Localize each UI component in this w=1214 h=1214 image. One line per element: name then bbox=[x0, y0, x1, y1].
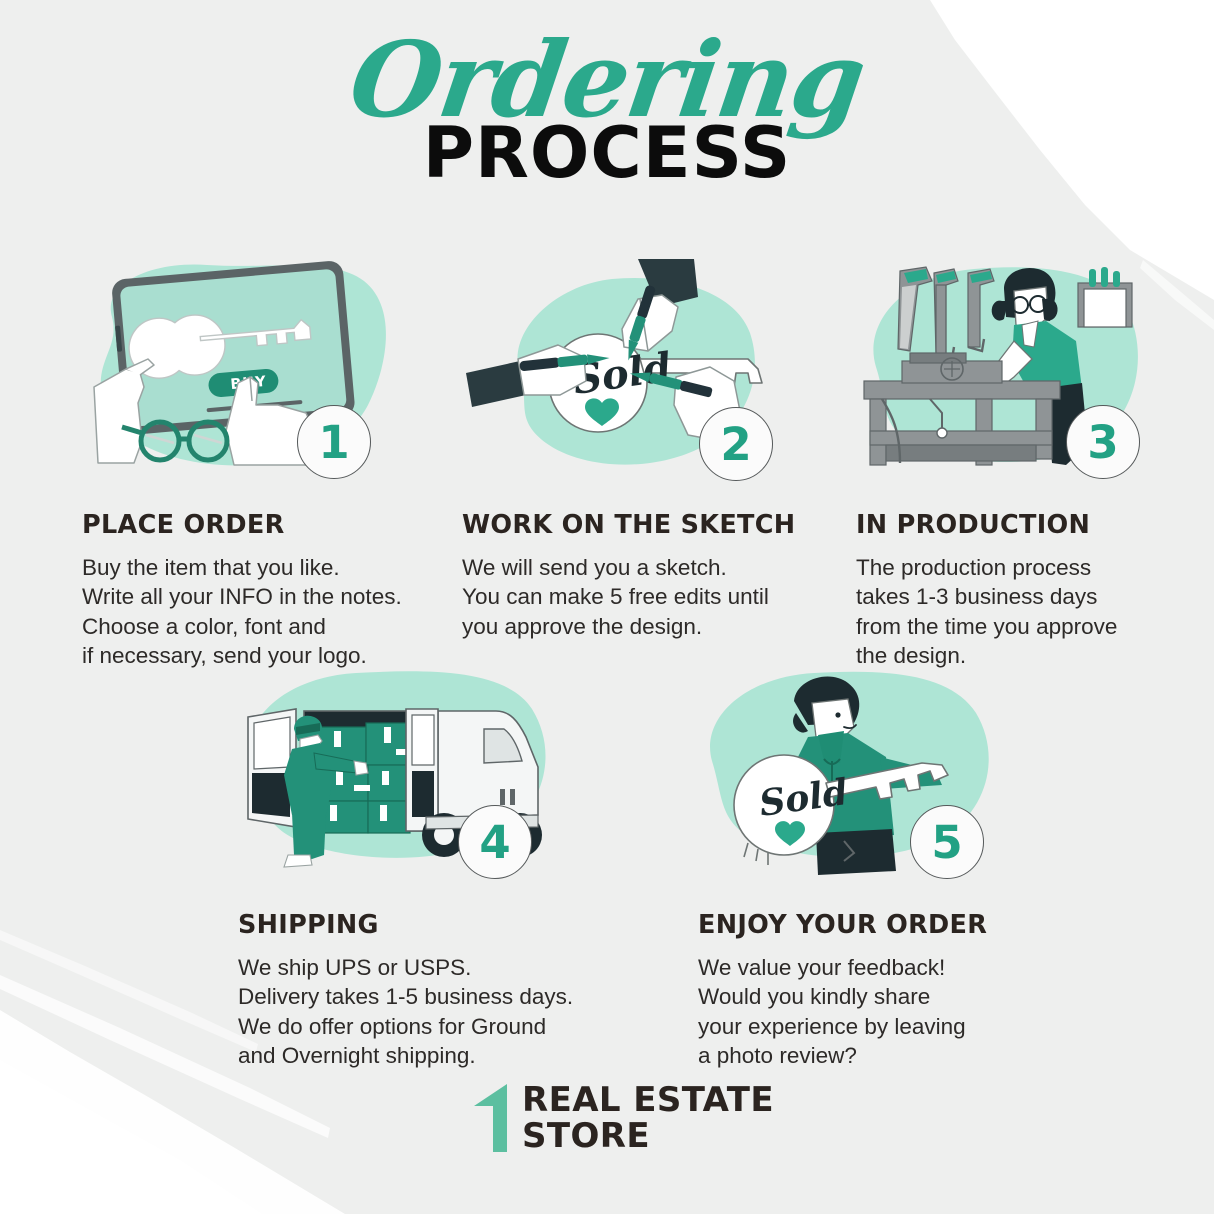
step-1-number-badge: 1 bbox=[297, 405, 371, 479]
step-4-number-badge: 4 bbox=[458, 805, 532, 879]
step-5-heading: ENJOY YOUR ORDER bbox=[698, 910, 1038, 940]
house-arrow-icon bbox=[474, 1084, 508, 1152]
step-1-body: Buy the item that you like. Write all yo… bbox=[82, 553, 447, 671]
step-2-body: We will send you a sketch. You can make … bbox=[462, 553, 812, 641]
step-5: Sold 5 ENJOY YOUR ORDER We value your fe… bbox=[698, 665, 1038, 1071]
step-3: 3 IN PRODUCTION The production process t… bbox=[856, 255, 1176, 671]
step-4-illustration: 4 bbox=[238, 665, 628, 880]
brand-logo: REAL ESTATE STORE bbox=[474, 1082, 774, 1155]
step-4-heading: SHIPPING bbox=[238, 910, 628, 940]
step-1-illustration: BUY bbox=[82, 255, 447, 480]
step-4-body: We ship UPS or USPS. Delivery takes 1-5 … bbox=[238, 953, 628, 1071]
step-2-illustration: Sold bbox=[462, 255, 812, 480]
step-3-heading: IN PRODUCTION bbox=[856, 510, 1176, 540]
infographic-page: Ordering PROCESS BUY bbox=[0, 0, 1214, 1214]
step-1: BUY bbox=[82, 255, 447, 671]
step-5-body: We value your feedback! Would you kindly… bbox=[698, 953, 1038, 1071]
step-4: 4 SHIPPING We ship UPS or USPS. Delivery… bbox=[238, 665, 628, 1071]
step-1-heading: PLACE ORDER bbox=[82, 510, 447, 540]
logo-line-1: REAL ESTATE bbox=[522, 1082, 774, 1118]
logo-line-2: STORE bbox=[522, 1118, 774, 1154]
step-5-number-badge: 5 bbox=[910, 805, 984, 879]
step-2: Sold bbox=[462, 255, 812, 641]
step-3-body: The production process takes 1-3 busines… bbox=[856, 553, 1176, 671]
step-3-number-badge: 3 bbox=[1066, 405, 1140, 479]
step-5-illustration: Sold 5 bbox=[698, 665, 1038, 880]
step-3-illustration: 3 bbox=[856, 255, 1176, 480]
step-2-heading: WORK ON THE SKETCH bbox=[462, 510, 812, 540]
title-script-word: Ordering bbox=[0, 28, 1214, 132]
step-2-number-badge: 2 bbox=[699, 407, 773, 481]
page-title: Ordering PROCESS bbox=[0, 28, 1214, 188]
